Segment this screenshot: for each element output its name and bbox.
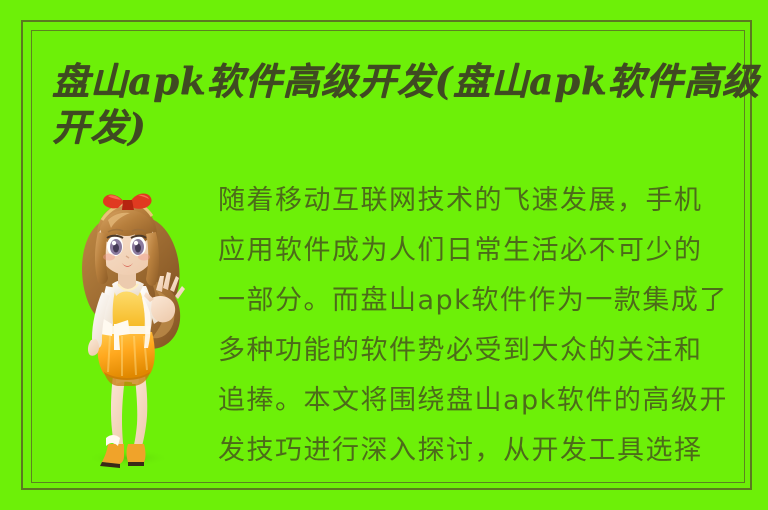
hand-left — [88, 339, 99, 356]
blush-right — [138, 254, 150, 261]
blush-left — [103, 254, 115, 261]
body-line-5: 追捧。本文将围绕盘山apk软件的高级开 — [218, 376, 743, 426]
poster-canvas: 盘山apk软件高级开发(盘山apk软件高级 开发) 随着移动互联网技术的飞速发展… — [0, 0, 768, 510]
anime-chibi-girl-character — [58, 172, 190, 468]
body-line-2: 应用软件成为人们日常生活必不可少的 — [218, 226, 743, 276]
shoe-right — [127, 444, 146, 462]
body-line-4: 多种功能的软件势必受到大众的关注和 — [218, 326, 743, 376]
shoe-right-sole — [128, 462, 144, 466]
article-body: 随着移动互联网技术的飞速发展，手机 应用软件成为人们日常生活必不可少的 一部分。… — [218, 176, 743, 476]
red-bow — [103, 193, 152, 210]
title-line-1: 盘山apk软件高级开发(盘山apk软件高级 — [52, 58, 742, 104]
page-title: 盘山apk软件高级开发(盘山apk软件高级 开发) — [52, 58, 742, 150]
body-line-3: 一部分。而盘山apk软件作为一款集成了 — [218, 276, 743, 326]
body-line-1: 随着移动互联网技术的飞速发展，手机 — [218, 176, 743, 226]
body-line-6: 发技巧进行深入探讨，从开发工具选择 — [218, 426, 743, 476]
title-line-2: 开发) — [52, 104, 742, 150]
